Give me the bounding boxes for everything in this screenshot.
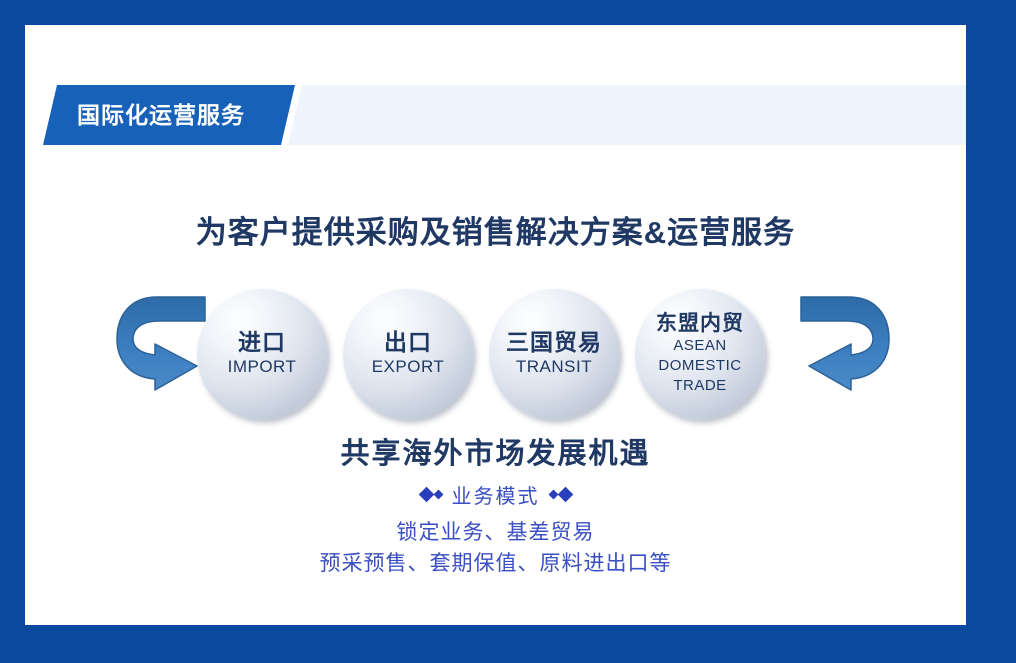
sub-heading: 共享海外市场发展机遇	[25, 430, 966, 472]
business-model-label: 业务模式	[25, 480, 966, 509]
diamond-icon	[418, 487, 434, 503]
circle-transit: 三国贸易 TRANSIT	[489, 289, 619, 419]
curved-arrow-right-icon	[797, 287, 893, 396]
circle-label-en: EXPORT	[372, 356, 445, 379]
circle-label-en-line3: TRADE	[673, 376, 726, 396]
diamond-small-icon	[433, 490, 443, 500]
circle-label-en: TRANSIT	[516, 356, 592, 379]
business-model-line-2: 预采预售、套期保值、原料进出口等	[25, 548, 966, 579]
circle-export: 出口 EXPORT	[343, 289, 473, 419]
diamond-pair-left-icon	[421, 489, 442, 500]
circle-label-cn: 三国贸易	[506, 329, 602, 355]
slide-canvas: 国际化运营服务 为客户提供采购及销售解决方案&运营服务	[25, 25, 966, 625]
circle-label-cn: 进口	[238, 329, 286, 355]
circle-label-cn: 出口	[384, 329, 432, 355]
main-heading: 为客户提供采购及销售解决方案&运营服务	[25, 207, 966, 252]
circle-asean-domestic-trade: 东盟内贸 ASEAN DOMESTIC TRADE	[635, 289, 765, 419]
section-header-banner: 国际化运营服务	[25, 85, 966, 145]
circle-label-en-line2: DOMESTIC	[658, 356, 741, 376]
business-model-line-1: 锁定业务、基差贸易	[25, 517, 966, 548]
curved-arrow-left-icon	[113, 287, 209, 396]
banner-title: 国际化运营服务	[77, 85, 245, 145]
slide-root: 国际化运营服务 为客户提供采购及销售解决方案&运营服务	[0, 0, 1016, 663]
circle-label-en-line1: ASEAN	[673, 336, 726, 356]
circle-label-en: IMPORT	[228, 356, 297, 379]
circle-label-cn: 东盟内贸	[656, 312, 744, 336]
diamond-small-icon	[548, 490, 558, 500]
business-model-text: 业务模式	[452, 480, 540, 509]
business-model-lines: 锁定业务、基差贸易 预采预售、套期保值、原料进出口等	[25, 517, 966, 579]
banner-light-band	[288, 85, 966, 145]
diamond-pair-right-icon	[550, 489, 571, 500]
circle-import: 进口 IMPORT	[197, 289, 327, 419]
process-diagram: 进口 IMPORT 出口 EXPORT 三国贸易 TRANSIT 东盟内贸 AS…	[25, 257, 966, 437]
diamond-icon	[557, 487, 573, 503]
